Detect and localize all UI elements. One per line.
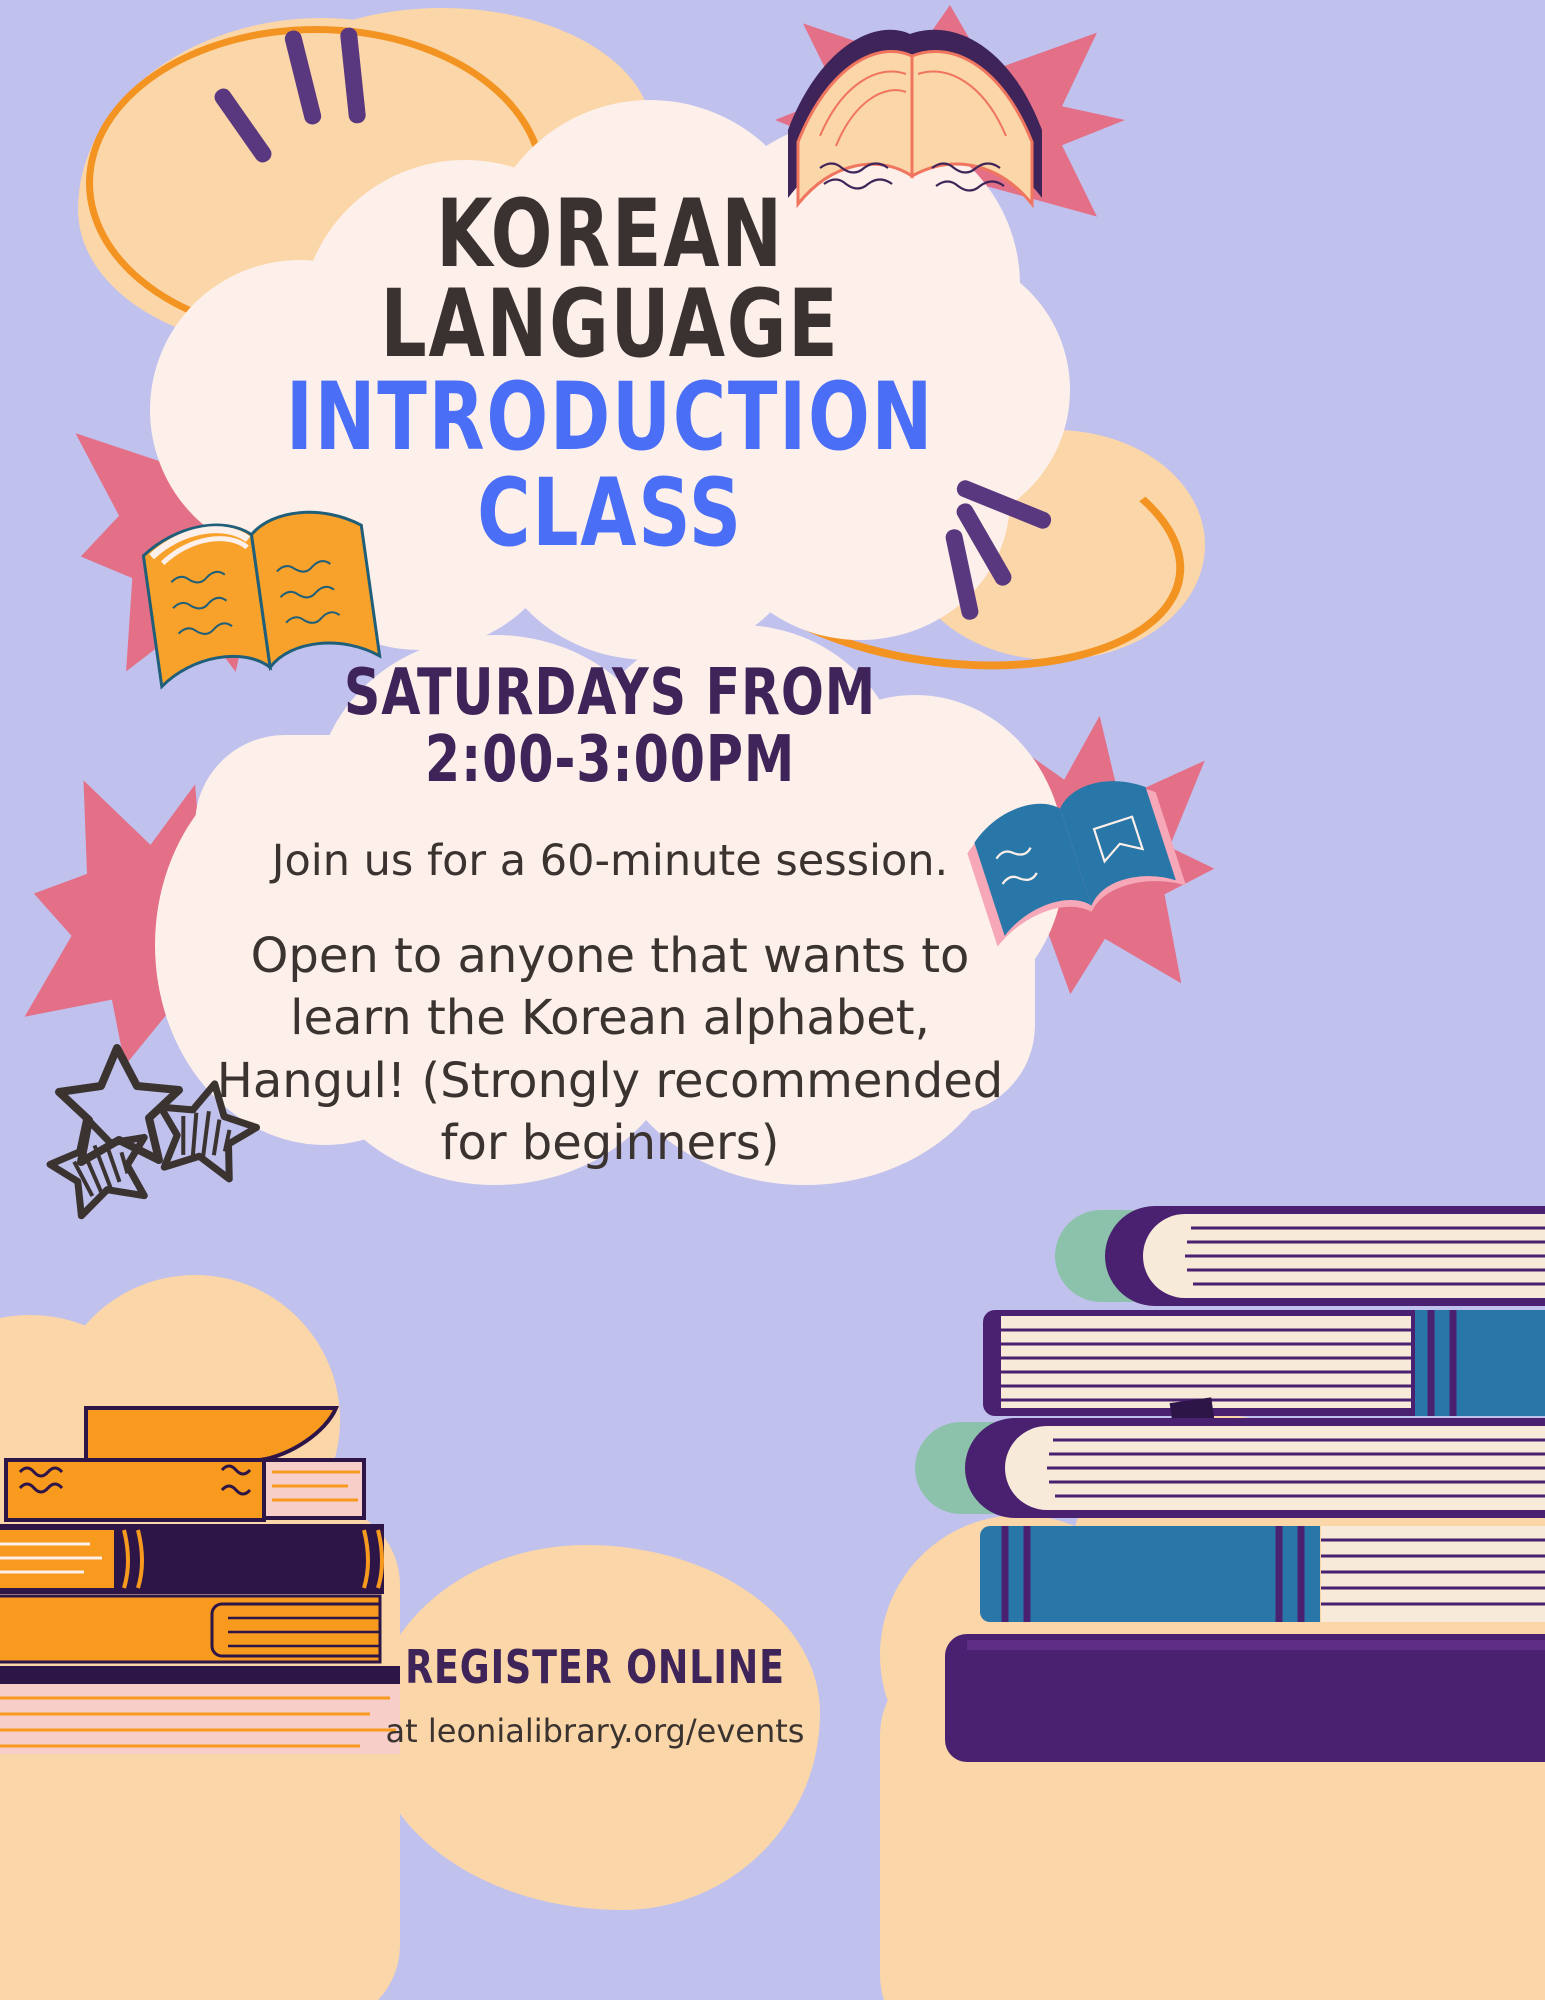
description-block: Open to anyone that wants to learn the K… xyxy=(175,925,1045,1175)
title-line-2: INTRODUCTION xyxy=(214,370,1005,466)
session-subtitle: Join us for a 60-minute session. xyxy=(175,835,1045,889)
title-line-3: CLASS xyxy=(214,466,1005,562)
details-block: SATURDAYS FROM 2:00-3:00PM Join us for a… xyxy=(175,660,1045,1174)
peach-cloud-bottom-right xyxy=(880,1375,1545,2000)
description-line-3: Hangul! (Strongly recommended xyxy=(175,1050,1045,1112)
description-line-1: Open to anyone that wants to xyxy=(175,925,1045,987)
register-url[interactable]: at leonialibrary.org/events xyxy=(370,1712,820,1750)
poster-title: KOREAN LANGUAGE INTRODUCTION CLASS xyxy=(150,190,1070,562)
register-block: REGISTER ONLINE at leonialibrary.org/eve… xyxy=(370,1640,820,1750)
schedule-line-2: 2:00-3:00PM xyxy=(227,727,993,794)
register-heading: REGISTER ONLINE xyxy=(397,1640,793,1694)
schedule-line-1: SATURDAYS FROM xyxy=(227,660,993,727)
peach-cloud-bottom-left xyxy=(0,1255,400,2000)
description-line-2: learn the Korean alphabet, xyxy=(175,987,1045,1049)
poster-canvas: KOREAN LANGUAGE INTRODUCTION CLASS SATUR… xyxy=(0,0,1545,2000)
description-line-4: for beginners) xyxy=(175,1112,1045,1174)
title-line-1: KOREAN LANGUAGE xyxy=(214,190,1005,370)
